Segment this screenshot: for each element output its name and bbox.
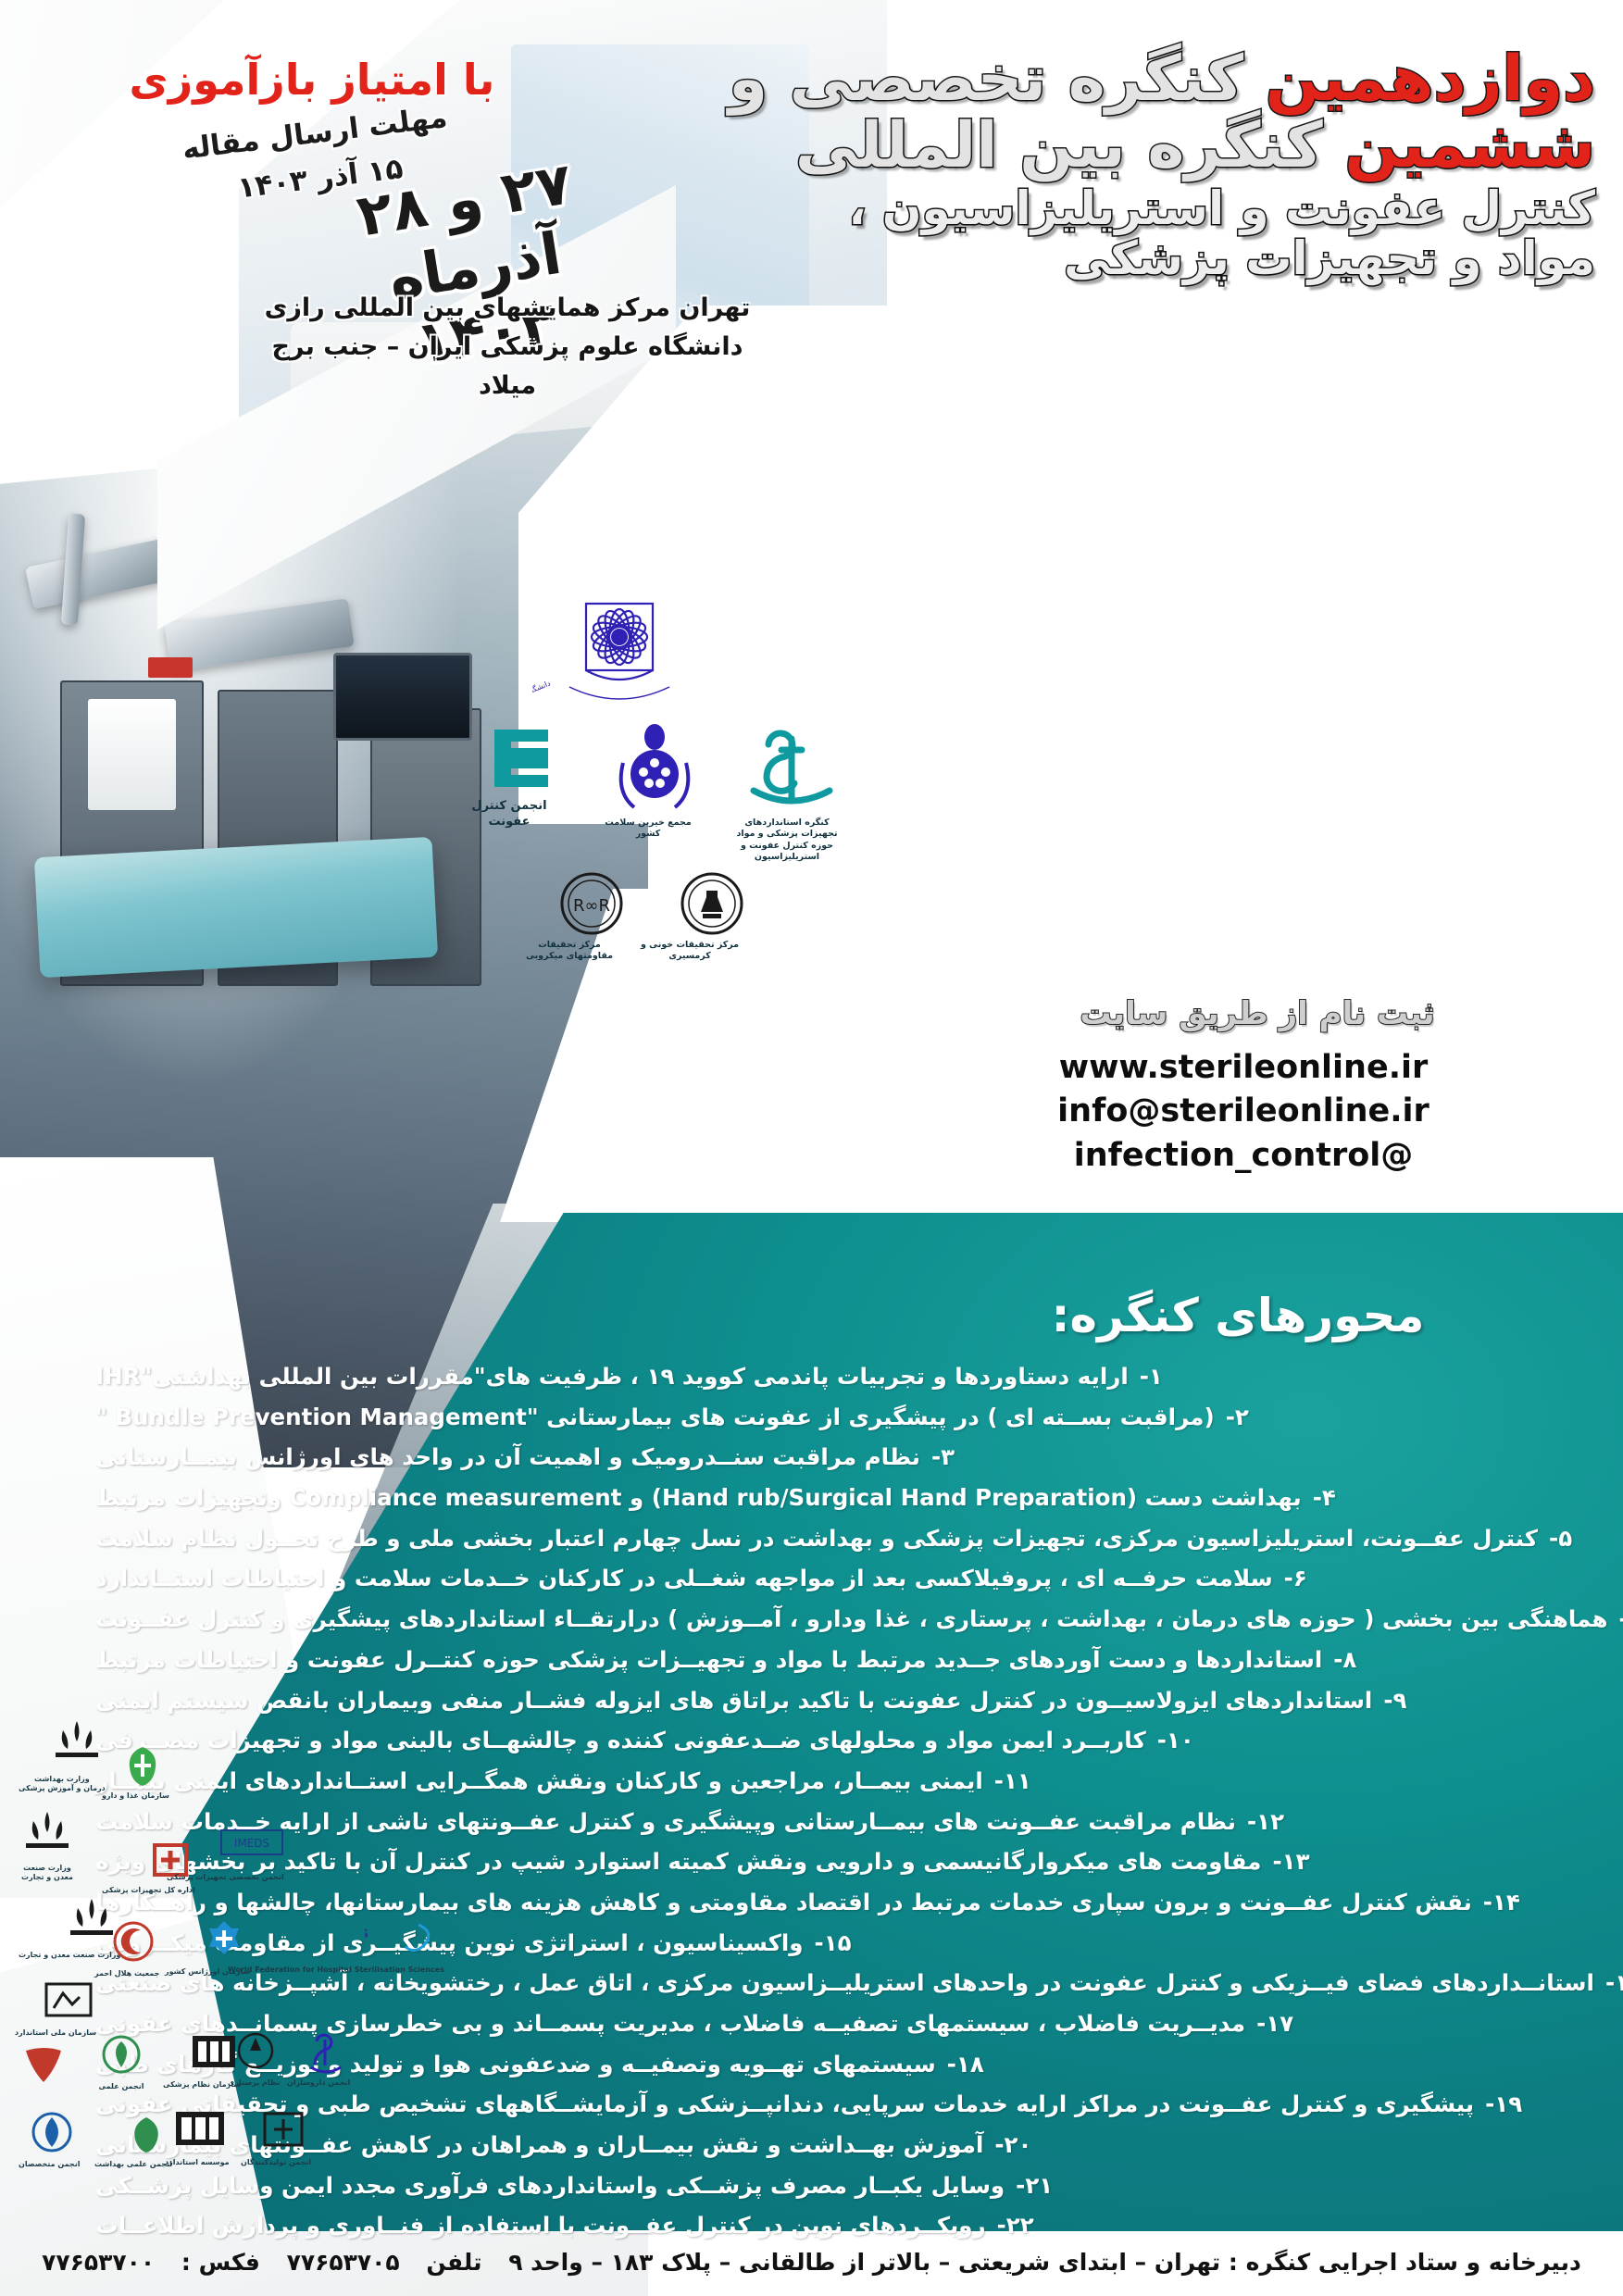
topic-number: ۱۳- xyxy=(1272,1851,1309,1874)
logo-wfhss: wfhss World Federation for Hospital Ster… xyxy=(228,1915,444,1975)
logo-standard-org: سازمان ملی استاندارد xyxy=(15,1978,96,2038)
conference-email-info[interactable]: info@sterileonline.ir xyxy=(1040,1090,1447,1133)
topic-number: ۱- xyxy=(1140,1366,1163,1389)
topic-item: ۵-کنترل عفــونت، استریلیزاسیون مرکزی، تج… xyxy=(95,1528,1558,1551)
footer-phone-label: تلفن xyxy=(426,2249,481,2276)
logo-caption: نظام پرستاری xyxy=(228,2078,281,2088)
logo-caption: انجمن علمی بهداشت xyxy=(94,2160,172,2169)
topic-number: ۱۸- xyxy=(947,2053,984,2077)
footer-address: دبیرخانه و ستاد اجرایی کنگره : تهران – ا… xyxy=(508,2249,1581,2276)
venue-line-2: دانشگاه علوم پزشکی ایران – جنب برج میلاد xyxy=(248,328,767,406)
footer-fax: ۷۷۶۵۳۷۰۰ xyxy=(42,2249,155,2276)
logo-research-institute: انجمن متخصصان xyxy=(19,2110,80,2169)
headline-line-2-rest: کنگره بین المللی xyxy=(795,109,1323,182)
topic-text: هماهنگی بین بخشی ( حوزه های درمان ، بهدا… xyxy=(95,1608,1607,1631)
logo-caption: مرکز تحقیقات خونی و کرمسیری xyxy=(634,940,745,963)
operating-table xyxy=(34,837,438,978)
topic-number: ۵- xyxy=(1549,1528,1572,1551)
topic-text: استانداردهای ایزولاسیــون در کنترل عفونت… xyxy=(95,1690,1372,1713)
logo-infection-control-association: انجمن کنترل عفونت xyxy=(454,722,565,830)
headline-line-1-rest: کنگره تخصصی و xyxy=(729,43,1243,116)
logo-ministry-health-1: وزارت بهداشتدرمان و آموزش پزشکی xyxy=(19,1717,106,1793)
svg-text:R∞R: R∞R xyxy=(573,896,610,916)
footer-contact-bar: دبیرخانه و ستاد اجرایی کنگره : تهران – ا… xyxy=(0,2249,1623,2276)
topic-number: ۹- xyxy=(1383,1690,1406,1713)
logo-caption: وزارت بهداشتدرمان و آموزش پزشکی xyxy=(19,1775,106,1793)
topic-number: ۴- xyxy=(1313,1487,1336,1510)
topic-item: ۹-استانداردهای ایزولاسیــون در کنترل عفو… xyxy=(95,1690,1558,1713)
svg-text:دانشگاه علوم پزشکی و خدمات بهد: دانشگاه علوم پزشکی و خدمات بهداشتی xyxy=(532,678,552,713)
topic-number: ۸- xyxy=(1333,1649,1356,1672)
logo-caption: وزارت صنعتمعدن و تجارت xyxy=(19,1864,76,1882)
logo-caption: World Federation for Hospital Sterilisat… xyxy=(228,1965,444,1975)
svg-text:IMEDS: IMEDS xyxy=(234,1837,269,1850)
topic-number: ۱۲- xyxy=(1247,1811,1284,1834)
topic-number: ۲۲- xyxy=(997,2215,1034,2238)
topic-item: ۶-سلامت حرفــه ای ، پروفیلاکسی بعد از مو… xyxy=(95,1567,1558,1591)
footer-phone: ۷۷۶۵۳۷۰۵ xyxy=(287,2249,400,2276)
topic-item: ۲-(مراقبت بســته ای ) در پیشگیری از عفون… xyxy=(95,1406,1558,1429)
topic-text: سلامت حرفــه ای ، پروفیلاکسی بعد از مواج… xyxy=(95,1567,1273,1591)
headline-ordinal-twelfth: دوازدهمین xyxy=(1266,43,1595,116)
logo-caption: انجمن متخصصان xyxy=(19,2160,80,2169)
logo-red-organization xyxy=(17,2043,70,2090)
topic-number: ۱۶- xyxy=(1605,1972,1623,1995)
topic-number: ۲۰- xyxy=(994,2134,1031,2157)
logo-nursing-org: نظام پرستاری xyxy=(228,2028,281,2088)
logo-red-crescent: جمعیت هلال احمر xyxy=(94,1919,159,1978)
topic-number: ۲۱- xyxy=(1016,2175,1053,2198)
topic-number: ۱۵- xyxy=(815,1932,852,1955)
topic-number: ۱۷- xyxy=(1256,2013,1293,2036)
logo-caption: جمعیت هلال احمر xyxy=(94,1969,159,1978)
topic-number: ۳- xyxy=(931,1446,955,1469)
partner-logo-row: کنگره استانداردهای تجهیزات پزشکی و مواد … xyxy=(454,722,843,870)
logo-research-center-microbial: R∞R مرکز تحقیقات مقاومتهای میکروبی xyxy=(514,870,625,963)
logo-caption: کنگره استانداردهای تجهیزات پزشکی و مواد … xyxy=(731,817,843,863)
logo-imeds: IMEDS انجمن تخصصی تجهیزات پزشکی xyxy=(167,1828,284,1882)
topic-number: ۲- xyxy=(1226,1406,1249,1429)
venue-line-1: تهران مرکز همایشهای بین المللی رازی xyxy=(248,289,767,328)
logo-caption: موسسه استاندارد xyxy=(165,2158,230,2167)
logo-caption: سازمان ملی استاندارد xyxy=(15,2028,96,2038)
monitor-screen xyxy=(333,653,472,741)
topic-number: ۱۴- xyxy=(1483,1891,1520,1915)
logo-congress-standards: کنگره استانداردهای تجهیزات پزشکی و مواد … xyxy=(731,722,843,863)
topic-text: (مراقبت بســته ای ) در پیشگیری از عفونت … xyxy=(95,1406,1215,1429)
topic-text: نظام مراقبت سنــدرومیک و اهمیت آن در واح… xyxy=(95,1446,920,1469)
registration-label: ثبت نام از طریق سایت xyxy=(1058,995,1456,1032)
conference-email-infection-control[interactable]: infection_control@ xyxy=(1040,1134,1447,1178)
topic-number: ۱۱- xyxy=(994,1770,1031,1793)
topic-item: ۷-هماهنگی بین بخشی ( حوزه های درمان ، به… xyxy=(95,1608,1558,1631)
topic-item: ۴-بهداشت دست (Hand rub/Surgical Hand Pre… xyxy=(95,1487,1558,1510)
topics-title: محورهای کنگره: xyxy=(1034,1289,1442,1342)
logo-research-center-blood: مرکز تحقیقات خونی و کرمسیری xyxy=(634,870,745,963)
logo-caption: اداره کل تجهیزات پزشکی xyxy=(102,1886,195,1895)
topic-item: ۲۲-رویکــردهای نوین در کنترل عفــونت با … xyxy=(95,2215,1558,2238)
footer-fax-label: فکس : xyxy=(181,2249,260,2276)
svg-text:wfhss: wfhss xyxy=(365,1924,368,1942)
headline: دوازدهمین کنگره تخصصی و ششمین کنگره بین … xyxy=(507,48,1595,285)
logo-pharma-institute: انجمن تولیدکنندگان xyxy=(241,2106,311,2167)
contact-block: www.sterileonline.ir info@sterileonline.… xyxy=(1040,1046,1447,1178)
topic-number: ۱۹- xyxy=(1485,2093,1522,2116)
headline-subject-2: مواد و تجهیزات پزشکی xyxy=(1064,231,1595,285)
headline-line-2: ششمین کنگره بین المللی xyxy=(507,115,1595,178)
logo-shahid-beheshti-university: دانشگاه علوم پزشکی و خدمات بهداشتی xyxy=(532,593,699,713)
topic-item: ۳-نظام مراقبت سنــدرومیک و اهمیت آن در و… xyxy=(95,1446,1558,1469)
topic-item: ۱-ارایه دستاوردها و تجربیات پاندمی کووید… xyxy=(95,1366,1558,1389)
topic-number: ۶- xyxy=(1284,1567,1307,1591)
logo-caption: انجمن کنترل عفونت xyxy=(454,799,565,830)
logo-caption: مجمع خیرین سلامت کشور xyxy=(593,817,704,841)
sponsor-logo-grid: وزارت بهداشتدرمان و آموزش پزشکی سازمان غ… xyxy=(9,1717,444,2217)
topic-text: کنترل عفــونت، استریلیزاسیون مرکزی، تجهی… xyxy=(95,1528,1538,1551)
headline-line-1: دوازدهمین کنگره تخصصی و xyxy=(507,48,1595,111)
logo-caption: انجمن تولیدکنندگان xyxy=(241,2158,311,2167)
headline-line-3: کنترل عفونت و استریلیزاسیون ، xyxy=(507,185,1595,231)
logo-caption: انجمن تخصصی تجهیزات پزشکی xyxy=(167,1873,284,1882)
logo-caption: انجمن داروسازان xyxy=(287,2078,350,2088)
topic-item: ۸-استانداردها و دست آوردهای جــدید مرتبط… xyxy=(95,1649,1558,1672)
logo-green-org: انجمن علمی xyxy=(94,2032,148,2091)
logo-caption: مرکز تحقیقات مقاومتهای میکروبی xyxy=(514,940,625,963)
topic-text: استانداردها و دست آوردهای جــدید مرتبط ب… xyxy=(95,1649,1322,1672)
logo-green-institute: انجمن علمی بهداشت xyxy=(94,2110,172,2169)
research-center-logo-row: مرکز تحقیقات خونی و کرمسیری R∞R مرکز تحق… xyxy=(514,870,745,981)
logo-ministry-health-2: وزارت صنعتمعدن و تجارت xyxy=(19,1808,76,1882)
topic-number: ۱۰- xyxy=(1157,1729,1194,1753)
logo-dark-institute: موسسه استاندارد xyxy=(165,2106,230,2167)
headline-ordinal-sixth: ششمین xyxy=(1344,109,1595,182)
logo-pharmacy-org: انجمن داروسازان xyxy=(287,2028,350,2088)
event-venue: تهران مرکز همایشهای بین المللی رازی دانش… xyxy=(248,289,767,406)
topic-text: رویکــردهای نوین در کنترل عفــونت با است… xyxy=(95,2215,986,2238)
logo-caption: سازمان غذا و دارو xyxy=(102,1791,169,1801)
conference-website[interactable]: www.sterileonline.ir xyxy=(1040,1046,1447,1090)
topic-text: ارایه دستاوردها و تجربیات پاندمی کووید ۱… xyxy=(95,1366,1129,1389)
poster-root: با امتیاز بازآموزی مهلت ارسال مقاله ۱۵ آ… xyxy=(0,0,1623,2296)
logo-caption: انجمن علمی xyxy=(94,2082,148,2091)
logo-health-benefactors-council: مجمع خیرین سلامت کشور xyxy=(593,722,704,841)
logo-health-green: سازمان غذا و دارو xyxy=(102,1741,169,1801)
red-label xyxy=(148,657,193,678)
topic-text: بهداشت دست (Hand rub/Surgical Hand Prepa… xyxy=(95,1487,1302,1510)
topic-number: ۷- xyxy=(1618,1608,1623,1631)
sterile-supplies xyxy=(88,699,176,810)
headline-subject-1: کنترل عفونت و استریلیزاسیون ، xyxy=(848,181,1595,235)
